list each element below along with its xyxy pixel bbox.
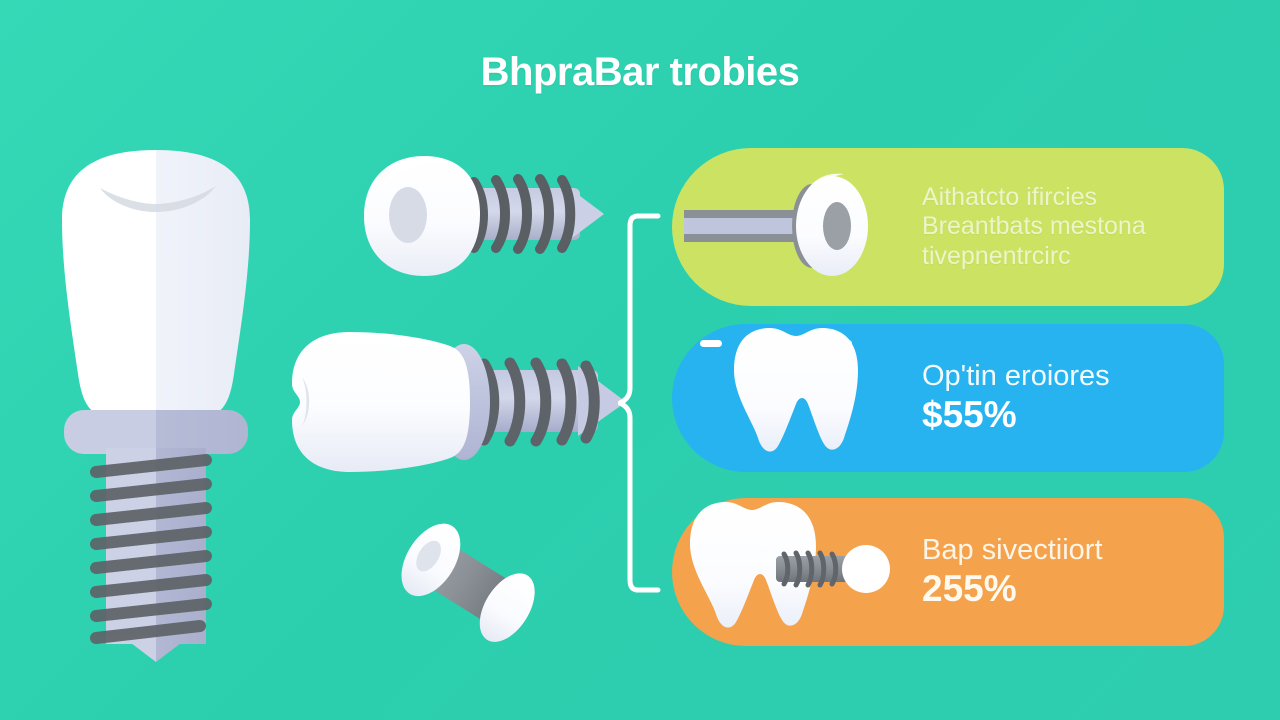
crown-with-implant-screw-part	[278, 322, 628, 502]
abutment-ring-bore	[823, 202, 851, 250]
card-orange-headline: Bap sivectiiort	[922, 533, 1206, 567]
hero-collar	[64, 410, 248, 454]
card-green-line-3: tivepnentrcirc	[922, 242, 1206, 272]
tooth-icon	[672, 324, 922, 472]
card-blue-headline: Op'tin eroiores	[922, 359, 1206, 393]
benefit-card-blue-text: Op'tin eroiores $55%	[922, 359, 1224, 437]
benefit-card-green[interactable]: Aithatcto ifircies Breantbats mestona ti…	[672, 148, 1224, 306]
tooth-with-implant-icon	[672, 498, 922, 646]
tooth-shape	[734, 328, 858, 452]
crown-body	[292, 332, 470, 472]
abutment-bore	[389, 187, 427, 243]
hero-implant-illustration	[44, 142, 268, 662]
benefit-card-green-text: Aithatcto ifircies Breantbats mestona ti…	[922, 183, 1224, 272]
implant-cap	[842, 545, 890, 593]
tooth-dash-left	[700, 340, 722, 347]
benefit-card-orange[interactable]: Bap sivectiiort 255%	[672, 498, 1224, 646]
hero-crown	[62, 150, 250, 418]
benefit-card-orange-text: Bap sivectiiort 255%	[922, 533, 1224, 611]
grouping-brace	[618, 212, 662, 594]
card-blue-metric: $55%	[922, 393, 1206, 437]
benefit-card-blue[interactable]: Op'tin eroiores $55%	[672, 324, 1224, 472]
page-title: BhpraBar trobies	[0, 52, 1280, 92]
card-orange-metric: 255%	[922, 567, 1206, 611]
connector-post-part	[368, 500, 564, 666]
card-green-line-1: Aithatcto ifircies	[922, 183, 1206, 213]
card-green-line-2: Breantbats mestona	[922, 212, 1206, 242]
abutment-post-icon	[672, 148, 922, 306]
abutment-with-screw-part	[352, 148, 622, 288]
infographic-canvas: BhpraBar trobies	[0, 0, 1280, 720]
